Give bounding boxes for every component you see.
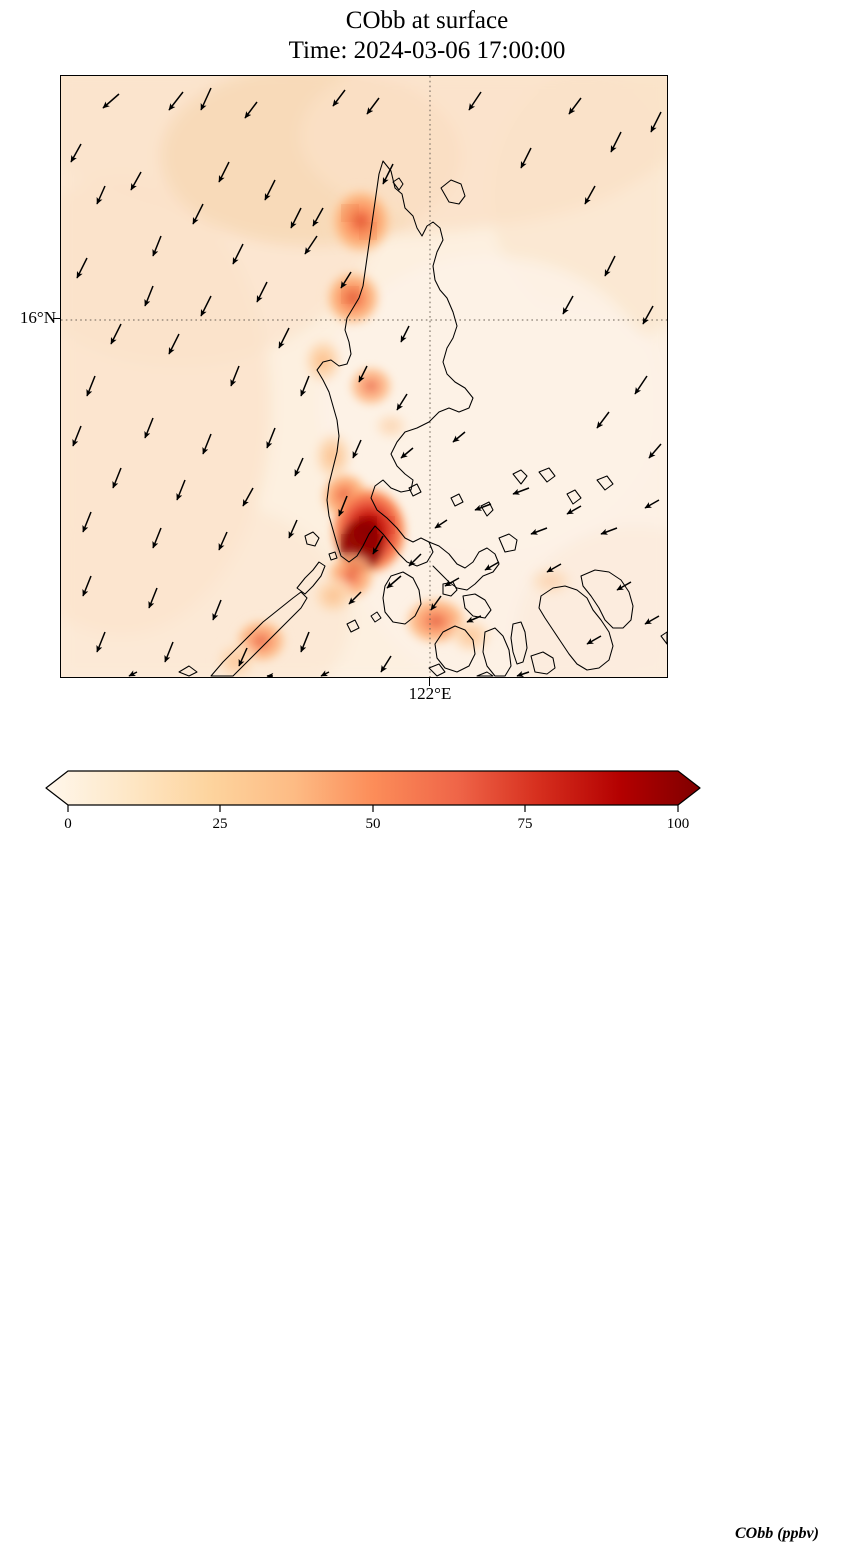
colorbar-tick-100: 100 — [667, 816, 690, 832]
axis-tick-latitude-16n — [53, 318, 61, 319]
figure-title-block: CObb at surface Time: 2024-03-06 17:00:0… — [0, 6, 854, 66]
colorbar-label: CObb (ppbv) — [735, 1525, 819, 1543]
axis-label-latitude-16n: 16°N — [8, 308, 56, 328]
colorbar-tick-75: 75 — [518, 816, 533, 832]
colorbar-tick-labels: 0 25 50 75 100 — [64, 816, 689, 832]
colorbar-gradient-bar — [46, 771, 700, 805]
page-title: CObb at surface — [0, 6, 854, 36]
axis-label-longitude-122e: 122°E — [398, 684, 462, 704]
map-canvas — [61, 76, 667, 677]
colorbar-tick-0: 0 — [64, 816, 72, 832]
colorbar-tick-25: 25 — [213, 816, 228, 832]
figure-subtitle-time: Time: 2024-03-06 17:00:00 — [0, 36, 854, 66]
map-plot-area — [60, 75, 668, 678]
colorbar-ticks — [68, 805, 678, 812]
axis-tick-longitude-122e — [429, 678, 430, 686]
colorbar-tick-50: 50 — [366, 816, 381, 832]
colorbar: 0 25 50 75 100 CObb (ppbv) — [0, 755, 854, 835]
